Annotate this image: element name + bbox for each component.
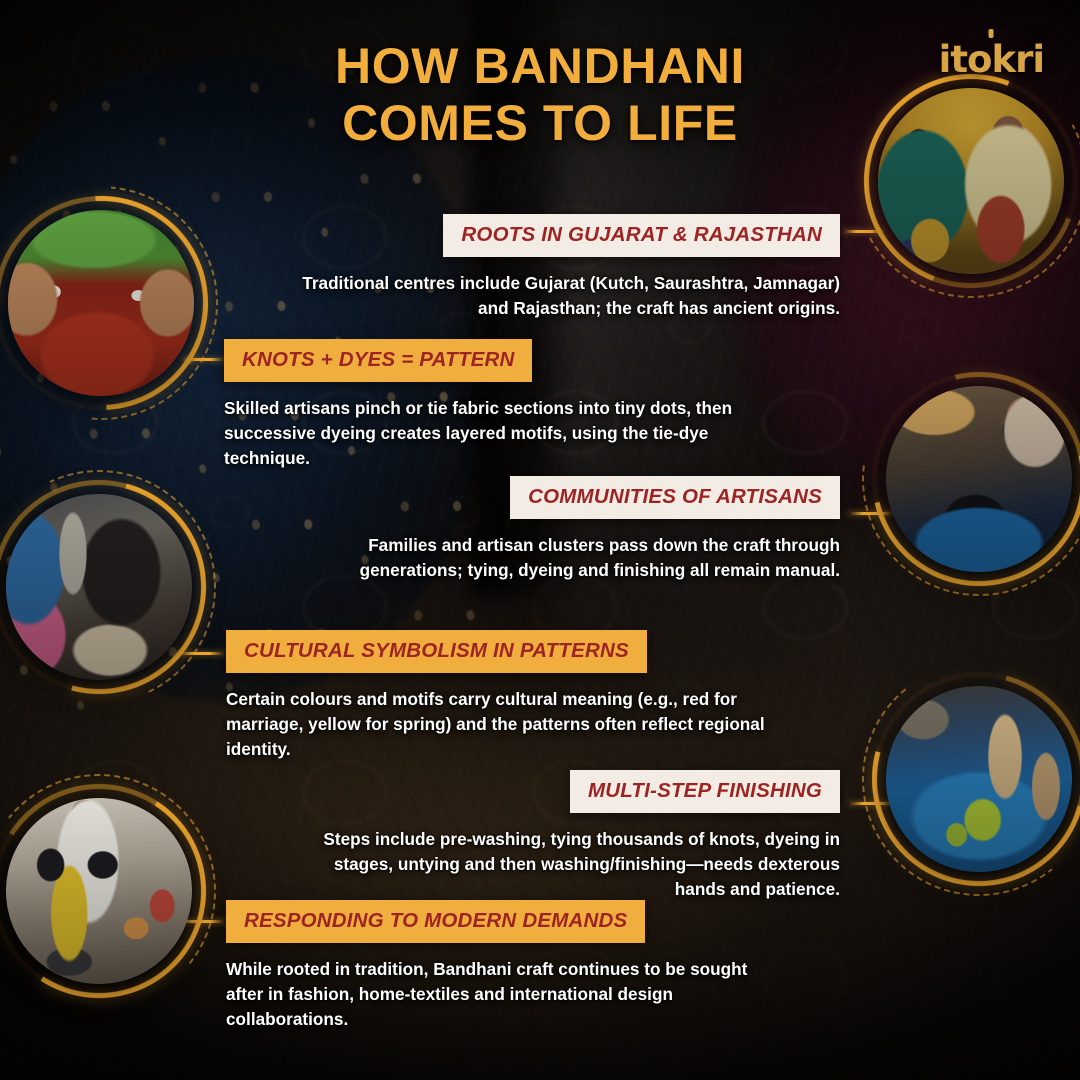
itokri-logo[interactable]: itokri bbox=[939, 38, 1044, 81]
photo-dyer-blue-tub bbox=[886, 386, 1072, 572]
section-knots: KNOTS + DYES = PATTERN Skilled artisans … bbox=[224, 339, 744, 471]
section-communities: COMMUNITIES OF ARTISANS Families and art… bbox=[292, 476, 840, 583]
section-modern: RESPONDING TO MODERN DEMANDS While roote… bbox=[226, 900, 786, 1032]
infographic-poster: HOW BANDHANI COMES TO LIFE itokri bbox=[0, 0, 1080, 1080]
section-body-roots: Traditional centres include Gujarat (Kut… bbox=[280, 271, 840, 321]
photo-disc-6 bbox=[6, 798, 192, 984]
photo-disc-2 bbox=[8, 210, 194, 396]
section-heading-communities: COMMUNITIES OF ARTISANS bbox=[510, 476, 840, 519]
photo-dye-vat bbox=[886, 686, 1072, 872]
photo-hands-red-cloth bbox=[8, 210, 194, 396]
section-heading-roots: ROOTS IN GUJARAT & RAJASTHAN bbox=[443, 214, 840, 257]
photo-women-outdoors bbox=[6, 494, 192, 680]
section-heading-symbolism: CULTURAL SYMBOLISM IN PATTERNS bbox=[226, 630, 647, 673]
photo-yellow-dye bbox=[6, 798, 192, 984]
page-title-line-2: COMES TO LIFE bbox=[0, 95, 1080, 152]
section-body-symbolism: Certain colours and motifs carry cultura… bbox=[226, 687, 766, 762]
section-body-modern: While rooted in tradition, Bandhani craf… bbox=[226, 957, 786, 1032]
page-title: HOW BANDHANI COMES TO LIFE bbox=[0, 38, 1080, 152]
page-title-line-1: HOW BANDHANI bbox=[0, 38, 1080, 95]
section-symbolism: CULTURAL SYMBOLISM IN PATTERNS Certain c… bbox=[226, 630, 766, 762]
photo-disc-5 bbox=[886, 686, 1072, 872]
photo-disc-3 bbox=[6, 494, 192, 680]
section-finishing: MULTI-STEP FINISHING Steps include pre-w… bbox=[300, 770, 840, 902]
photo-disc-4 bbox=[886, 386, 1072, 572]
section-body-communities: Families and artisan clusters pass down … bbox=[292, 533, 840, 583]
section-heading-knots: KNOTS + DYES = PATTERN bbox=[224, 339, 532, 382]
section-roots: ROOTS IN GUJARAT & RAJASTHAN Traditional… bbox=[280, 214, 840, 321]
itokri-logo-text: itokri bbox=[939, 38, 1044, 81]
section-heading-modern: RESPONDING TO MODERN DEMANDS bbox=[226, 900, 645, 943]
section-body-finishing: Steps include pre-washing, tying thousan… bbox=[300, 827, 840, 902]
section-heading-finishing: MULTI-STEP FINISHING bbox=[570, 770, 840, 813]
section-body-knots: Skilled artisans pinch or tie fabric sec… bbox=[224, 396, 744, 471]
